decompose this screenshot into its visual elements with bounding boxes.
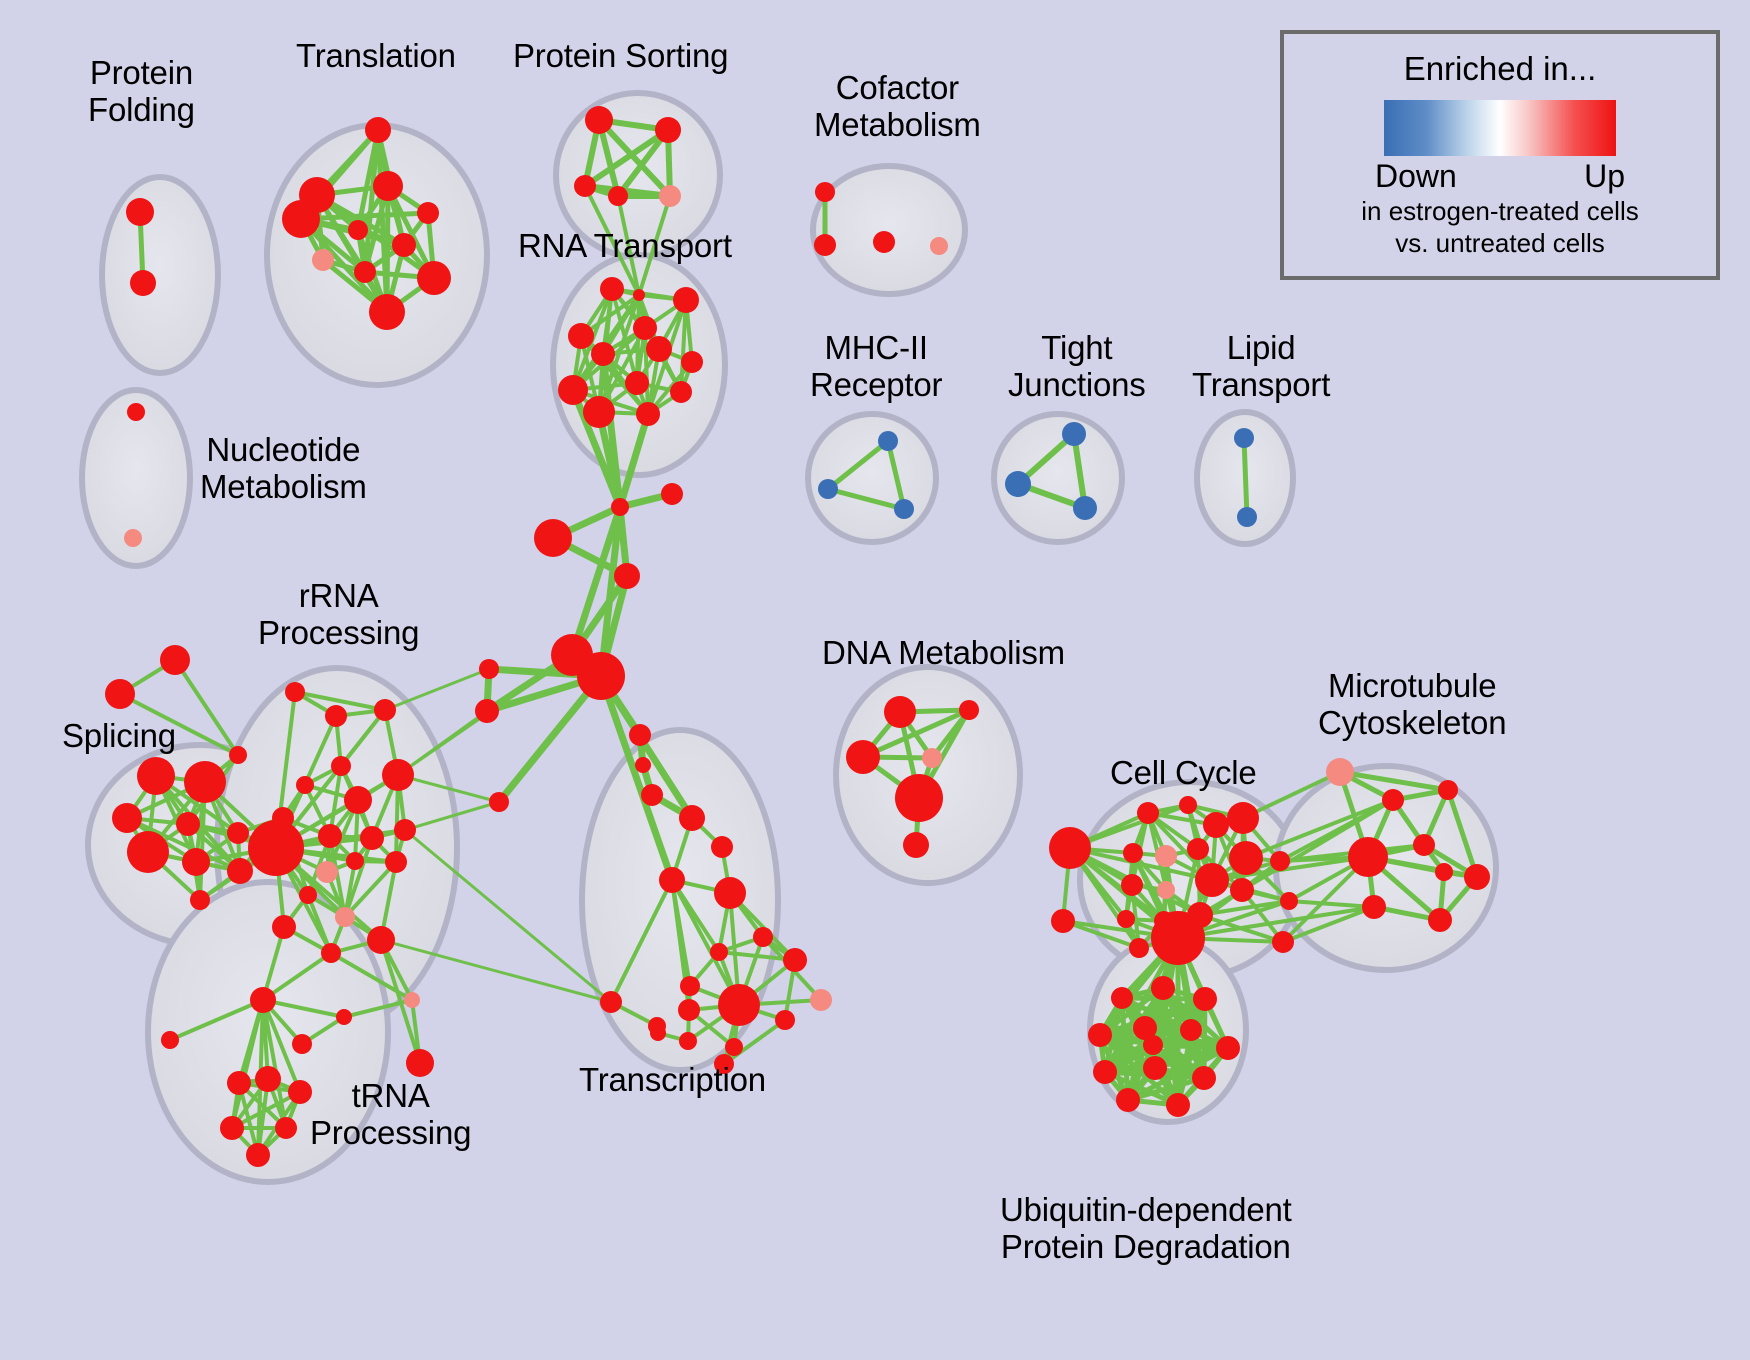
network-node-ub11[interactable]: [1116, 1088, 1140, 1112]
network-node-tx18[interactable]: [810, 989, 832, 1011]
network-node-ch4[interactable]: [614, 563, 640, 589]
legend-caption-line-2: vs. untreated cells: [1284, 229, 1716, 259]
network-node-ps1[interactable]: [585, 106, 613, 134]
network-node-tj1[interactable]: [1062, 422, 1086, 446]
network-node-ub6[interactable]: [1180, 1019, 1202, 1041]
network-node-cc19[interactable]: [1151, 911, 1205, 965]
network-node-tr3[interactable]: [373, 171, 403, 201]
network-node-cc10[interactable]: [1121, 874, 1143, 896]
cluster-label-cell-cycle: Cell Cycle: [1110, 755, 1257, 792]
network-node-rt3[interactable]: [633, 316, 657, 340]
network-node-rt1[interactable]: [600, 277, 624, 301]
network-node-ch3[interactable]: [534, 519, 572, 557]
network-node-mt9[interactable]: [1464, 864, 1490, 890]
network-node-rr10[interactable]: [248, 820, 304, 876]
network-node-rr7[interactable]: [344, 786, 372, 814]
network-node-rr20[interactable]: [367, 926, 395, 954]
network-node-ub1[interactable]: [1111, 987, 1133, 1009]
network-node-dn1[interactable]: [884, 696, 916, 728]
network-node-rr4[interactable]: [331, 756, 351, 776]
network-node-cc6[interactable]: [1123, 843, 1143, 863]
network-node-rr18[interactable]: [272, 915, 296, 939]
network-node-tj2[interactable]: [1005, 471, 1031, 497]
network-node-ps5[interactable]: [659, 185, 681, 207]
network-node-pf2[interactable]: [130, 270, 156, 296]
network-node-tx7[interactable]: [680, 976, 700, 996]
network-node-tn4[interactable]: [288, 1080, 312, 1104]
network-node-rt5[interactable]: [568, 323, 594, 349]
network-node-cc12[interactable]: [1195, 863, 1229, 897]
network-node-tn5[interactable]: [220, 1116, 244, 1140]
network-node-rr23[interactable]: [336, 1009, 352, 1025]
network-node-tx9[interactable]: [783, 948, 807, 972]
network-node-pf1[interactable]: [126, 198, 154, 226]
legend-title: Enriched in...: [1284, 50, 1716, 88]
cluster-label-rna-transport: RNA Transport: [518, 228, 732, 265]
network-node-cc4[interactable]: [1203, 812, 1229, 838]
network-node-rr11[interactable]: [360, 826, 384, 850]
network-node-tr7[interactable]: [392, 233, 416, 257]
network-node-ub7[interactable]: [1216, 1036, 1240, 1060]
legend-up-label: Up: [1584, 158, 1625, 195]
network-node-ps2[interactable]: [655, 117, 681, 143]
network-node-lt1[interactable]: [1234, 428, 1254, 448]
network-node-cm1[interactable]: [815, 182, 835, 202]
cluster-label-lipid-transport: Lipid Transport: [1192, 330, 1330, 404]
network-node-ch2[interactable]: [661, 483, 683, 505]
network-node-mt2[interactable]: [1382, 789, 1404, 811]
network-node-tx13[interactable]: [600, 991, 622, 1013]
network-node-cc7[interactable]: [1155, 845, 1177, 867]
network-node-cc13[interactable]: [1230, 878, 1254, 902]
network-node-tx4[interactable]: [714, 877, 746, 909]
network-node-tn2[interactable]: [227, 1071, 251, 1095]
network-node-tx8[interactable]: [718, 984, 760, 1026]
network-node-ch6[interactable]: [577, 652, 625, 700]
network-node-sp8[interactable]: [127, 831, 169, 873]
network-node-rr21[interactable]: [250, 987, 276, 1013]
legend-color-gradient-bar: [1384, 100, 1616, 156]
network-node-cc22[interactable]: [1272, 931, 1294, 953]
network-node-lt2[interactable]: [1237, 507, 1257, 527]
cluster-label-cofactor-metabolism: Cofactor Metabolism: [814, 70, 981, 144]
network-node-sp11[interactable]: [227, 858, 253, 884]
network-node-tx3[interactable]: [659, 867, 685, 893]
network-node-rt12[interactable]: [583, 396, 615, 428]
network-node-cc1[interactable]: [1049, 827, 1091, 869]
network-node-rt8[interactable]: [681, 351, 703, 373]
network-node-mh1[interactable]: [878, 431, 898, 451]
legend-caption-line-1: in estrogen-treated cells: [1284, 197, 1716, 227]
network-node-ch1[interactable]: [611, 498, 629, 516]
network-node-rr12[interactable]: [394, 819, 416, 841]
network-node-rr22[interactable]: [292, 1034, 312, 1054]
cluster-label-splicing: Splicing: [62, 718, 176, 755]
legend-panel: Enriched in... Down Up in estrogen-treat…: [1280, 30, 1720, 280]
network-node-dn6[interactable]: [903, 832, 929, 858]
network-node-rt7[interactable]: [646, 336, 672, 362]
network-node-cc17[interactable]: [1051, 909, 1075, 933]
network-node-nm2[interactable]: [124, 529, 142, 547]
network-node-mh2[interactable]: [818, 479, 838, 499]
network-node-dn2[interactable]: [959, 700, 979, 720]
network-node-cm4[interactable]: [930, 237, 948, 255]
network-node-ub13[interactable]: [1143, 1035, 1163, 1055]
network-node-dn3[interactable]: [846, 740, 880, 774]
network-node-cc3[interactable]: [1179, 796, 1197, 814]
network-node-ub4[interactable]: [1088, 1023, 1112, 1047]
network-node-ps3[interactable]: [574, 175, 596, 197]
network-node-ch10[interactable]: [635, 757, 651, 773]
cluster-label-translation: Translation: [296, 38, 456, 75]
network-node-rt11[interactable]: [670, 381, 692, 403]
network-node-sp5[interactable]: [184, 761, 226, 803]
cluster-label-dna-metabolism: DNA Metabolism: [822, 635, 1065, 672]
network-node-sp4[interactable]: [137, 757, 175, 795]
network-node-mt7[interactable]: [1362, 895, 1386, 919]
network-node-rt13[interactable]: [636, 402, 660, 426]
network-node-mh3[interactable]: [894, 499, 914, 519]
network-node-tx17[interactable]: [648, 1017, 666, 1035]
cluster-ellipse-protein-folding[interactable]: [102, 177, 218, 373]
network-node-mt3[interactable]: [1438, 780, 1458, 800]
network-node-sp6[interactable]: [112, 803, 142, 833]
network-node-sp9[interactable]: [182, 848, 210, 876]
network-node-dn5[interactable]: [895, 774, 943, 822]
network-node-ch12[interactable]: [641, 784, 663, 806]
network-node-sp12[interactable]: [190, 890, 210, 910]
network-node-ub12[interactable]: [1166, 1093, 1190, 1117]
cluster-label-ubiquitin-degradation: Ubiquitin-dependent Protein Degradation: [1000, 1192, 1292, 1266]
network-node-mt8[interactable]: [1428, 908, 1452, 932]
cluster-ellipse-mhc-ii-receptor[interactable]: [808, 414, 936, 542]
network-node-tn6[interactable]: [275, 1117, 297, 1139]
legend-down-label: Down: [1375, 158, 1457, 195]
network-node-ch9[interactable]: [629, 724, 651, 746]
network-node-ch8[interactable]: [475, 699, 499, 723]
network-node-ch11[interactable]: [489, 792, 509, 812]
network-node-tx6[interactable]: [710, 943, 728, 961]
network-node-tx12[interactable]: [679, 1032, 697, 1050]
legend-endpoints: Down Up: [1375, 158, 1625, 195]
edge-rr3-ch7: [385, 669, 489, 710]
network-node-ps4[interactable]: [608, 186, 628, 206]
network-node-rr3[interactable]: [374, 699, 396, 721]
network-node-tr9[interactable]: [354, 261, 376, 283]
cluster-ellipse-cofactor-metabolism[interactable]: [813, 166, 965, 294]
network-node-cc20[interactable]: [1270, 851, 1290, 871]
network-node-mt6[interactable]: [1435, 863, 1453, 881]
cluster-label-tight-junctions: Tight Junctions: [1008, 330, 1146, 404]
network-node-cc9[interactable]: [1229, 841, 1263, 875]
network-node-ub8[interactable]: [1093, 1060, 1117, 1084]
network-node-tr1[interactable]: [365, 117, 391, 143]
network-node-tr10[interactable]: [417, 261, 451, 295]
network-node-tn3[interactable]: [255, 1066, 281, 1092]
network-node-rr5[interactable]: [296, 776, 314, 794]
network-node-rt4[interactable]: [633, 289, 645, 301]
cluster-label-protein-folding: Protein Folding: [88, 55, 195, 129]
network-node-ub3[interactable]: [1193, 987, 1217, 1011]
network-node-mt1[interactable]: [1326, 758, 1354, 786]
network-node-rr15[interactable]: [385, 851, 407, 873]
network-node-rr25[interactable]: [406, 1049, 434, 1077]
edge-tr3-tr11: [387, 186, 388, 312]
network-node-rr16[interactable]: [299, 886, 317, 904]
cluster-label-protein-sorting: Protein Sorting: [513, 38, 728, 75]
network-node-tx11[interactable]: [725, 1038, 743, 1056]
network-node-rr6[interactable]: [382, 759, 414, 791]
network-node-tn1[interactable]: [161, 1031, 179, 1049]
network-node-tx1[interactable]: [679, 805, 705, 831]
network-node-ub10[interactable]: [1192, 1066, 1216, 1090]
network-node-rr1[interactable]: [285, 682, 305, 702]
network-node-cc14[interactable]: [1117, 910, 1135, 928]
network-node-tr11[interactable]: [369, 294, 405, 330]
network-node-rr19[interactable]: [321, 943, 341, 963]
cluster-label-transcription: Transcription: [579, 1062, 766, 1099]
network-node-rt10[interactable]: [625, 371, 649, 395]
network-node-ch7[interactable]: [479, 659, 499, 679]
network-node-sp7[interactable]: [176, 812, 200, 836]
network-node-cm2[interactable]: [814, 234, 836, 256]
network-figure: Protein FoldingTranslationProtein Sortin…: [0, 0, 1750, 1360]
network-node-nm1[interactable]: [127, 403, 145, 421]
cluster-label-microtubule-cytoskeleton: Microtubule Cytoskeleton: [1318, 668, 1506, 742]
network-node-cc21[interactable]: [1280, 892, 1298, 910]
network-node-tx14[interactable]: [678, 999, 700, 1021]
cluster-label-rrna-processing: rRNA Processing: [258, 578, 419, 652]
edge-lt1-lt2: [1244, 438, 1247, 517]
network-node-tx2[interactable]: [711, 836, 733, 858]
network-node-rr24[interactable]: [404, 992, 420, 1008]
network-node-cc11[interactable]: [1157, 881, 1175, 899]
network-node-mt4[interactable]: [1348, 837, 1388, 877]
network-node-sp3[interactable]: [229, 746, 247, 764]
cluster-label-nucleotide-metabolism: Nucleotide Metabolism: [200, 432, 367, 506]
network-node-cc8[interactable]: [1187, 838, 1209, 860]
network-node-rt9[interactable]: [558, 375, 588, 405]
network-node-cm3[interactable]: [873, 231, 895, 253]
network-node-cc2[interactable]: [1137, 802, 1159, 824]
cluster-label-trna-processing: tRNA Processing: [310, 1078, 471, 1152]
network-node-tj3[interactable]: [1073, 496, 1097, 520]
network-node-tr8[interactable]: [312, 249, 334, 271]
network-node-sp1[interactable]: [160, 645, 190, 675]
network-node-rr13[interactable]: [316, 861, 338, 883]
network-node-tr4[interactable]: [282, 200, 320, 238]
network-node-ub2[interactable]: [1151, 976, 1175, 1000]
network-node-rr9[interactable]: [318, 824, 342, 848]
network-node-sp2[interactable]: [105, 679, 135, 709]
network-node-cc5[interactable]: [1227, 802, 1259, 834]
network-node-sp10[interactable]: [227, 822, 249, 844]
network-node-dn4[interactable]: [922, 748, 942, 768]
network-node-rt2[interactable]: [673, 287, 699, 313]
network-node-cc18[interactable]: [1129, 938, 1149, 958]
network-node-mt5[interactable]: [1413, 834, 1435, 856]
network-node-rr17[interactable]: [335, 907, 355, 927]
network-node-rt6[interactable]: [591, 342, 615, 366]
network-node-tr5[interactable]: [417, 202, 439, 224]
network-node-tr6[interactable]: [348, 220, 368, 240]
network-node-tx5[interactable]: [753, 927, 773, 947]
network-node-rr14[interactable]: [346, 852, 364, 870]
cluster-label-mhc-ii-receptor: MHC-II Receptor: [810, 330, 942, 404]
network-node-tn7[interactable]: [246, 1143, 270, 1167]
network-node-tx10[interactable]: [775, 1010, 795, 1030]
network-node-ub9[interactable]: [1143, 1056, 1167, 1080]
network-node-rr2[interactable]: [325, 705, 347, 727]
